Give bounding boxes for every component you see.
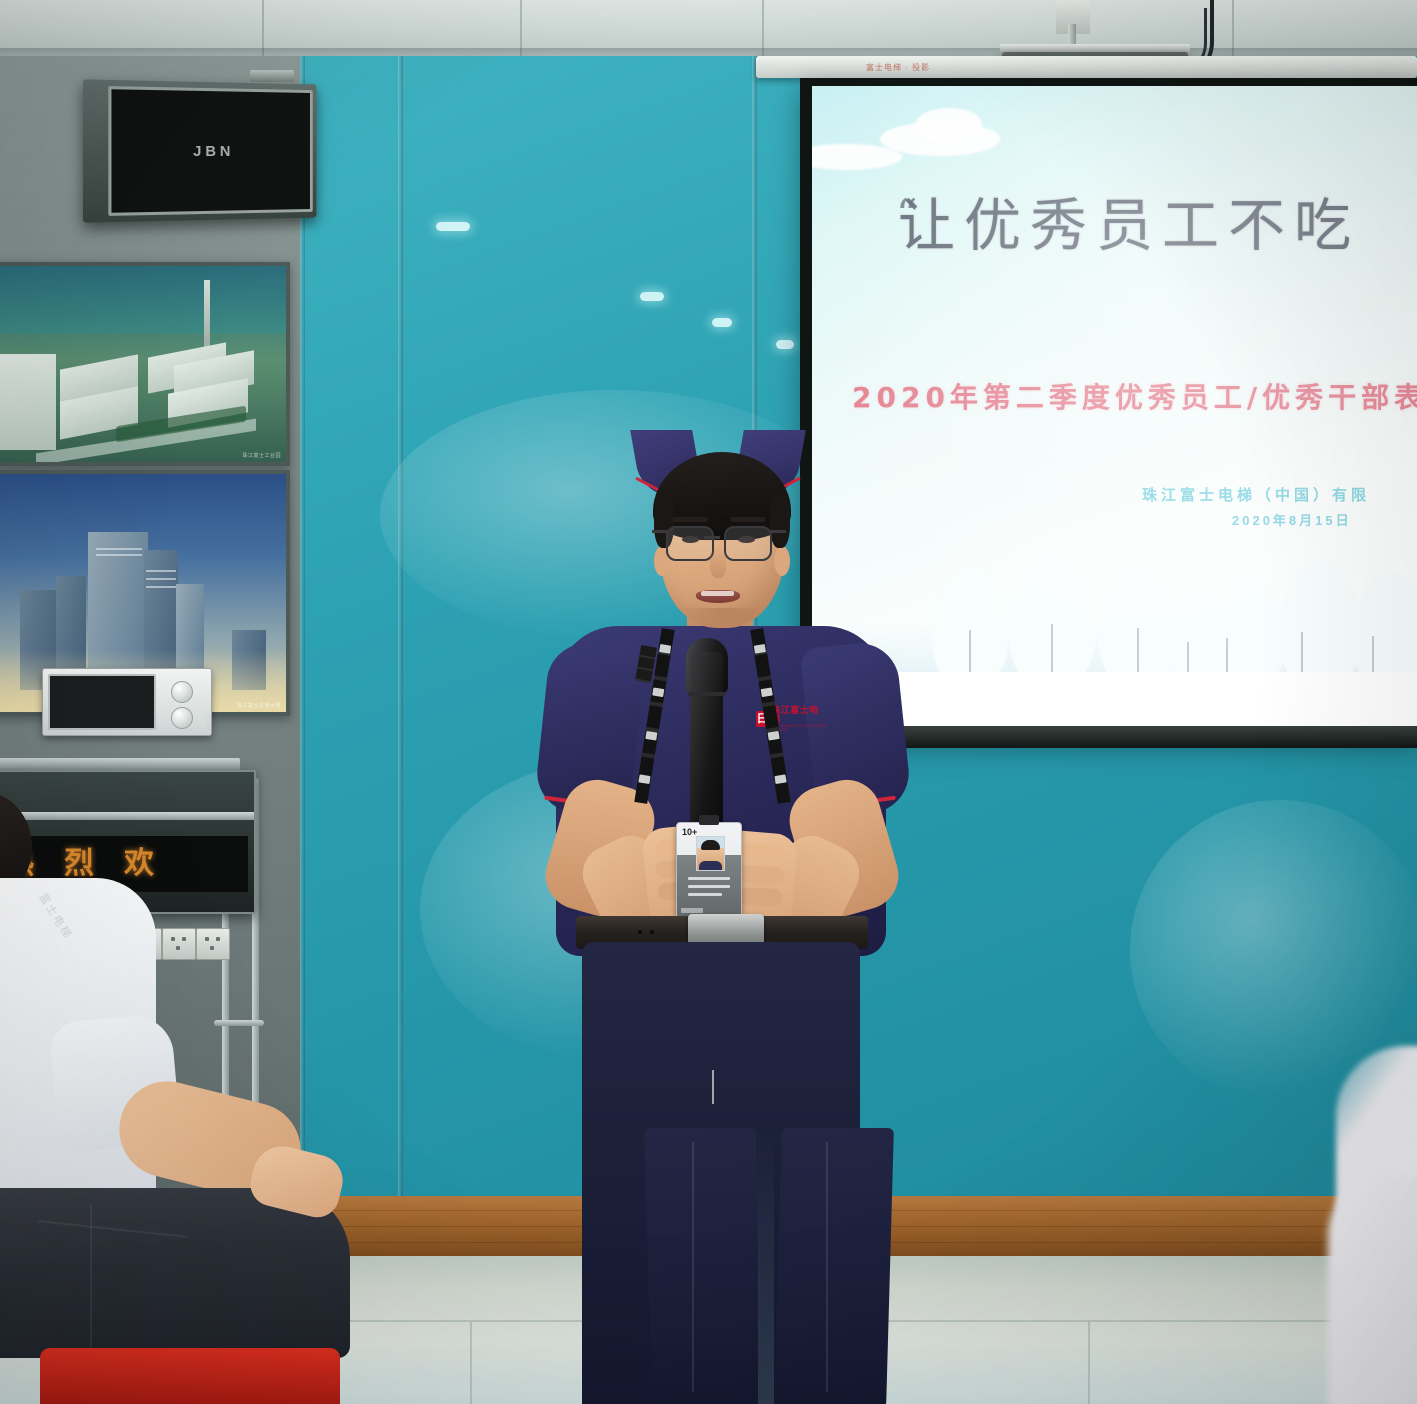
photo-window-band: [96, 554, 142, 556]
trouser-leg-left: [644, 1128, 764, 1404]
wall-panel-seam: [398, 56, 403, 1236]
photo-window-band: [146, 570, 176, 572]
eyeglass-bridge: [704, 536, 720, 539]
ear-right: [774, 546, 790, 576]
front-right-attendee-shoulder: [1328, 1176, 1417, 1404]
speaker-bracket: [250, 70, 294, 82]
slide-tree: [1278, 560, 1362, 690]
id-badge: 10+: [676, 822, 742, 918]
badge-photo: [696, 836, 725, 871]
ceiling-light-reflection: [776, 340, 794, 349]
brand-name: 珠江富士电梯: [771, 706, 828, 724]
microwave-oven: [42, 668, 212, 736]
hair-sideburn-right: [770, 492, 790, 548]
slide-cloud: [812, 144, 902, 170]
ceiling-light-reflection: [712, 318, 732, 327]
loose-thread: [712, 1070, 714, 1104]
eyebrow-right: [730, 517, 766, 522]
photo-caption: 珠江富士工业园: [242, 452, 281, 459]
front-left-attendee: 富士电梯: [0, 792, 370, 1404]
floor-tile-seam: [1088, 1322, 1090, 1404]
photo-sky: [0, 266, 286, 333]
ceiling-light-reflection: [640, 292, 664, 301]
photo-window-band: [96, 548, 142, 550]
badge-photo-hair: [701, 840, 720, 850]
microwave-knob[interactable]: [171, 681, 193, 703]
photo-building: [0, 354, 56, 450]
slide-subtitle: 2020年第二季度优秀员工/优秀干部表: [852, 376, 1417, 416]
eyeglass-temple-left: [652, 530, 668, 533]
trouser-crease: [692, 1142, 694, 1392]
trouser-crease: [826, 1142, 828, 1392]
eyeglass-lens-left: [666, 526, 714, 561]
trouser-leg-gap: [758, 1126, 774, 1404]
slide-date: 2020年8月15日: [1232, 510, 1352, 529]
slide-cloud: [916, 108, 982, 140]
badge-clip: [699, 815, 719, 825]
presenter: 日 珠江富士电梯 ZHUJIANG FUJI ELEVATOR CO.,LTD: [520, 430, 920, 1404]
attendee-lap-trousers: [0, 1188, 350, 1358]
speaker-grille: JBN: [108, 86, 312, 216]
photo-caption: 珠江富士总部大楼: [237, 702, 281, 709]
factory-aerial-photo: 珠江富士工业园: [0, 262, 290, 466]
photo-window-band: [146, 586, 176, 588]
eyeglass-temple-right: [770, 530, 786, 533]
trousers: [582, 942, 860, 1404]
eyeglass-lens-right: [724, 526, 772, 561]
ceiling-light-reflection: [436, 222, 470, 231]
nose: [710, 548, 726, 578]
attendee-red-chair: [40, 1348, 340, 1404]
microphone-ring: [688, 692, 726, 696]
badge-text-line: [688, 885, 730, 888]
projection-screen-roller: 富士电梯 · 投影: [756, 56, 1417, 78]
badge-text-line: [688, 877, 730, 880]
eyebrow-left: [672, 517, 708, 522]
badge-photo-body: [699, 861, 722, 870]
brand-subtext: ZHUJIANG FUJI ELEVATOR CO.,LTD: [771, 724, 828, 732]
badge-text-line: [688, 893, 722, 896]
badge-tier-label: 10+: [682, 827, 697, 837]
slide-title: 让优秀员工不吃: [898, 196, 1360, 258]
chin-shadow: [680, 608, 764, 628]
floor-tile-seam: [470, 1322, 472, 1404]
photo-window-band: [146, 578, 176, 580]
microwave-door: [48, 674, 156, 730]
microwave-control-panel: [158, 673, 206, 727]
photo-greenery: [0, 462, 286, 466]
trouser-leg-right: [774, 1128, 894, 1404]
wall-speaker: JBN: [83, 79, 316, 222]
teeth: [701, 591, 734, 596]
speaker-brand-label: JBN: [193, 142, 234, 159]
badge-footer: [681, 908, 703, 913]
conference-room-photo: 珠江富士工业园 珠江富士总部大楼 热 烈 欢: [0, 0, 1417, 1404]
roller-label: 富士电梯 · 投影: [866, 62, 930, 73]
slide-organization: 珠江富士电梯（中国）有限: [1142, 484, 1370, 505]
microwave-knob[interactable]: [171, 707, 193, 729]
